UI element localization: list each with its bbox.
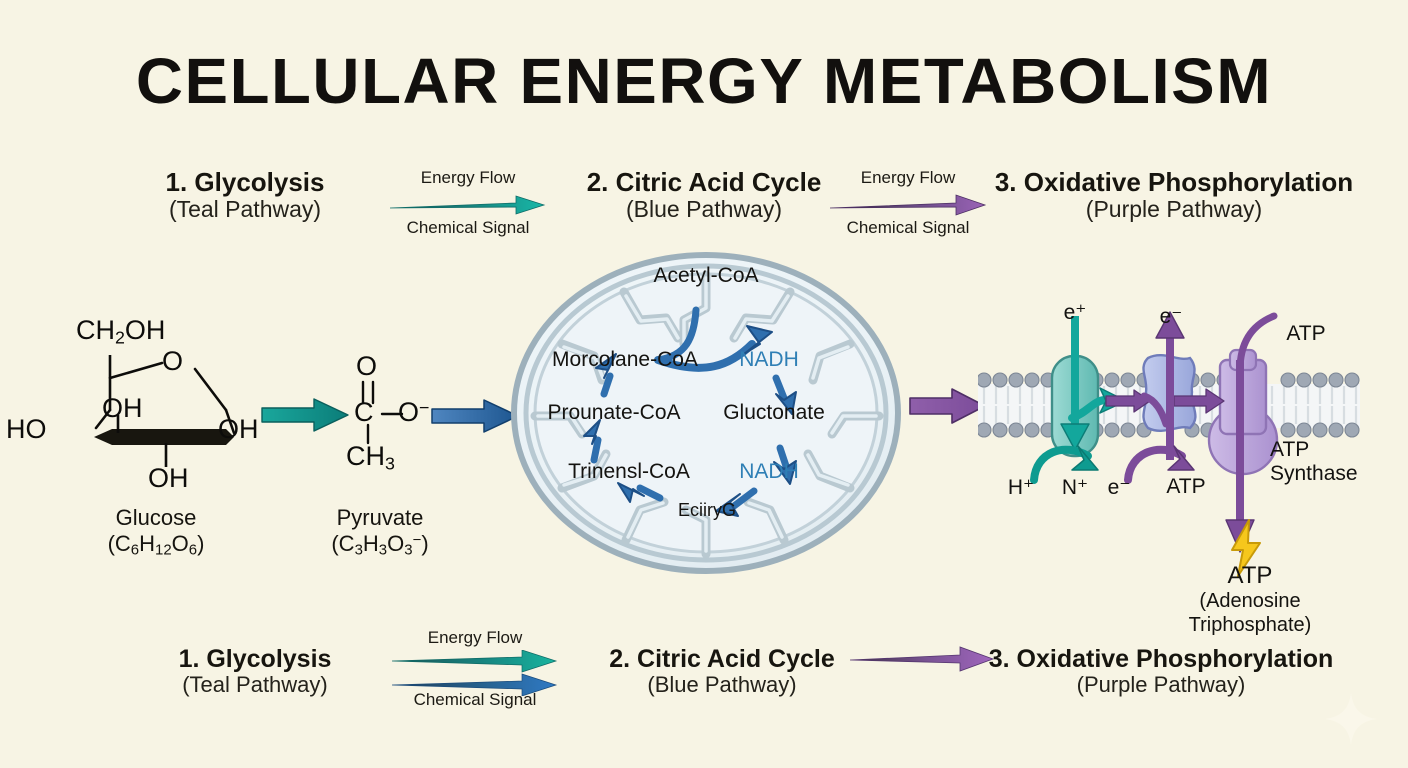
diagram-canvas: CELLULAR ENERGY METABOLISM 1. Glycolysis…: [0, 0, 1408, 768]
legend-subtitle: (Teal Pathway): [100, 673, 410, 698]
legend-label-energy-flow: Energy Flow: [390, 628, 560, 648]
stage-heading-citric-top: 2. Citric Acid Cycle (Blue Pathway): [548, 168, 860, 223]
glucose-label-oh-inner: OH: [102, 393, 143, 424]
mito-label-prounate-coa: Prounate-CoA: [524, 401, 704, 425]
pyruvate-formula: (C3H3O3−): [280, 531, 480, 560]
legend-title: 1. Glycolysis: [100, 645, 410, 673]
membrane-label-atp-synthase: ATP Synthase: [1270, 438, 1378, 485]
mito-label-acetyl-coa: Acetyl-CoA: [616, 264, 796, 288]
pyruvate-label-methyl: CH3: [346, 441, 395, 474]
legend-arrow-purple: [848, 645, 996, 673]
atp-output-label: ATP: [1150, 562, 1350, 590]
page-title: CELLULAR ENERGY METABOLISM: [0, 44, 1408, 118]
atp-synthase-line1: ATP: [1270, 438, 1378, 462]
legend-label-chemical-signal: Chemical Signal: [390, 690, 560, 710]
legend-title: 2. Citric Acid Cycle: [572, 645, 872, 673]
connector-label-chemical-signal: Chemical Signal: [388, 218, 548, 238]
stage-subtitle: (Blue Pathway): [548, 197, 860, 223]
atp-output-sublabel-line1: (Adenosine: [1150, 590, 1350, 614]
legend-subtitle: (Blue Pathway): [572, 673, 872, 698]
oxidative-phosphorylation-membrane: e⁺ H⁺ N⁺ e⁻ e⁻ ATP ATP ATP Synthase: [978, 300, 1360, 560]
stage-subtitle: (Purple Pathway): [988, 197, 1360, 223]
legend-title: 3. Oxidative Phosphorylation: [976, 645, 1346, 673]
legend-oxidative-phosphorylation: 3. Oxidative Phosphorylation (Purple Pat…: [976, 645, 1346, 698]
legend-glycolysis: 1. Glycolysis (Teal Pathway): [100, 645, 410, 698]
legend-citric-acid-cycle: 2. Citric Acid Cycle (Blue Pathway): [572, 645, 872, 698]
connector-label-energy-flow: Energy Flow: [388, 168, 548, 188]
mito-label-trinensl-coa: Trinensl-CoA: [544, 460, 714, 484]
mitochondrion: Acetyl-CoA NADH Gluctonate NADH EciiryG …: [508, 248, 904, 578]
glucose-caption: Glucose (C6H12O6): [46, 505, 266, 560]
connector-top-right: Energy Flow Chemical Signal: [828, 168, 988, 240]
mito-label-morcolane-coa: Morcolane-CoA: [530, 348, 720, 372]
sparkle-icon: [1322, 690, 1380, 748]
stage-title: 3. Oxidative Phosphorylation: [988, 168, 1360, 197]
membrane-label-complex3-top: e⁻: [1136, 304, 1206, 329]
membrane-label-atp-top: ATP: [1266, 322, 1346, 346]
mito-label-nadh-bottom: NADH: [704, 460, 834, 484]
glucose-formula: (C6H12O6): [46, 531, 266, 560]
connector-label-chemical-signal: Chemical Signal: [828, 218, 988, 238]
stage-heading-glycolysis-top: 1. Glycolysis (Teal Pathway): [90, 168, 400, 223]
atp-synthase-line2: Synthase: [1270, 462, 1378, 486]
membrane-label-electron-in: e⁻: [1084, 475, 1154, 500]
glucose-label-ch2oh: CH2OH: [76, 315, 165, 348]
stage-title: 1. Glycolysis: [90, 168, 400, 197]
glucose-label-ho-left: HO: [6, 414, 47, 445]
glucose-label-oh-right: OH: [218, 414, 259, 445]
glucose-label-ring-oxygen: O: [162, 346, 183, 377]
membrane-label-complex1-input: e⁺: [1040, 300, 1110, 325]
stage-heading-oxphos-top: 3. Oxidative Phosphorylation (Purple Pat…: [988, 168, 1360, 223]
pyruvate-name: Pyruvate: [280, 505, 480, 531]
mito-label-gluctonate: Gluctonate: [692, 401, 856, 425]
legend-subtitle: (Purple Pathway): [976, 673, 1346, 698]
pyruvate-label-carbonyl-oxygen: O: [356, 351, 377, 382]
glucose-label-oh-bottom: OH: [148, 463, 189, 494]
atp-output-caption: ATP (Adenosine Triphosphate): [1150, 562, 1350, 638]
mito-label-eciiryg: EciiryG: [652, 500, 762, 521]
membrane-label-atp-mid: ATP: [1146, 475, 1226, 499]
arrow-teal-top: [388, 192, 548, 218]
pyruvate-label-carbon: C: [354, 397, 374, 428]
atp-output-sublabel-line2: Triphosphate): [1150, 614, 1350, 638]
stage-title: 2. Citric Acid Cycle: [548, 168, 860, 197]
pyruvate-caption: Pyruvate (C3H3O3−): [280, 505, 480, 560]
mito-label-nadh-top: NADH: [704, 348, 834, 372]
connector-label-energy-flow: Energy Flow: [828, 168, 988, 188]
connector-top-left: Energy Flow Chemical Signal: [388, 168, 548, 240]
glucose-name: Glucose: [46, 505, 266, 531]
arrow-purple-top: [828, 192, 988, 218]
pyruvate-label-oxygen-anion: O−: [398, 397, 429, 428]
arrow-mitochondrion-to-membrane: [908, 385, 988, 427]
legend-connector-left: Energy Flow Chemical Signal: [390, 628, 560, 712]
stage-subtitle: (Teal Pathway): [90, 197, 400, 223]
